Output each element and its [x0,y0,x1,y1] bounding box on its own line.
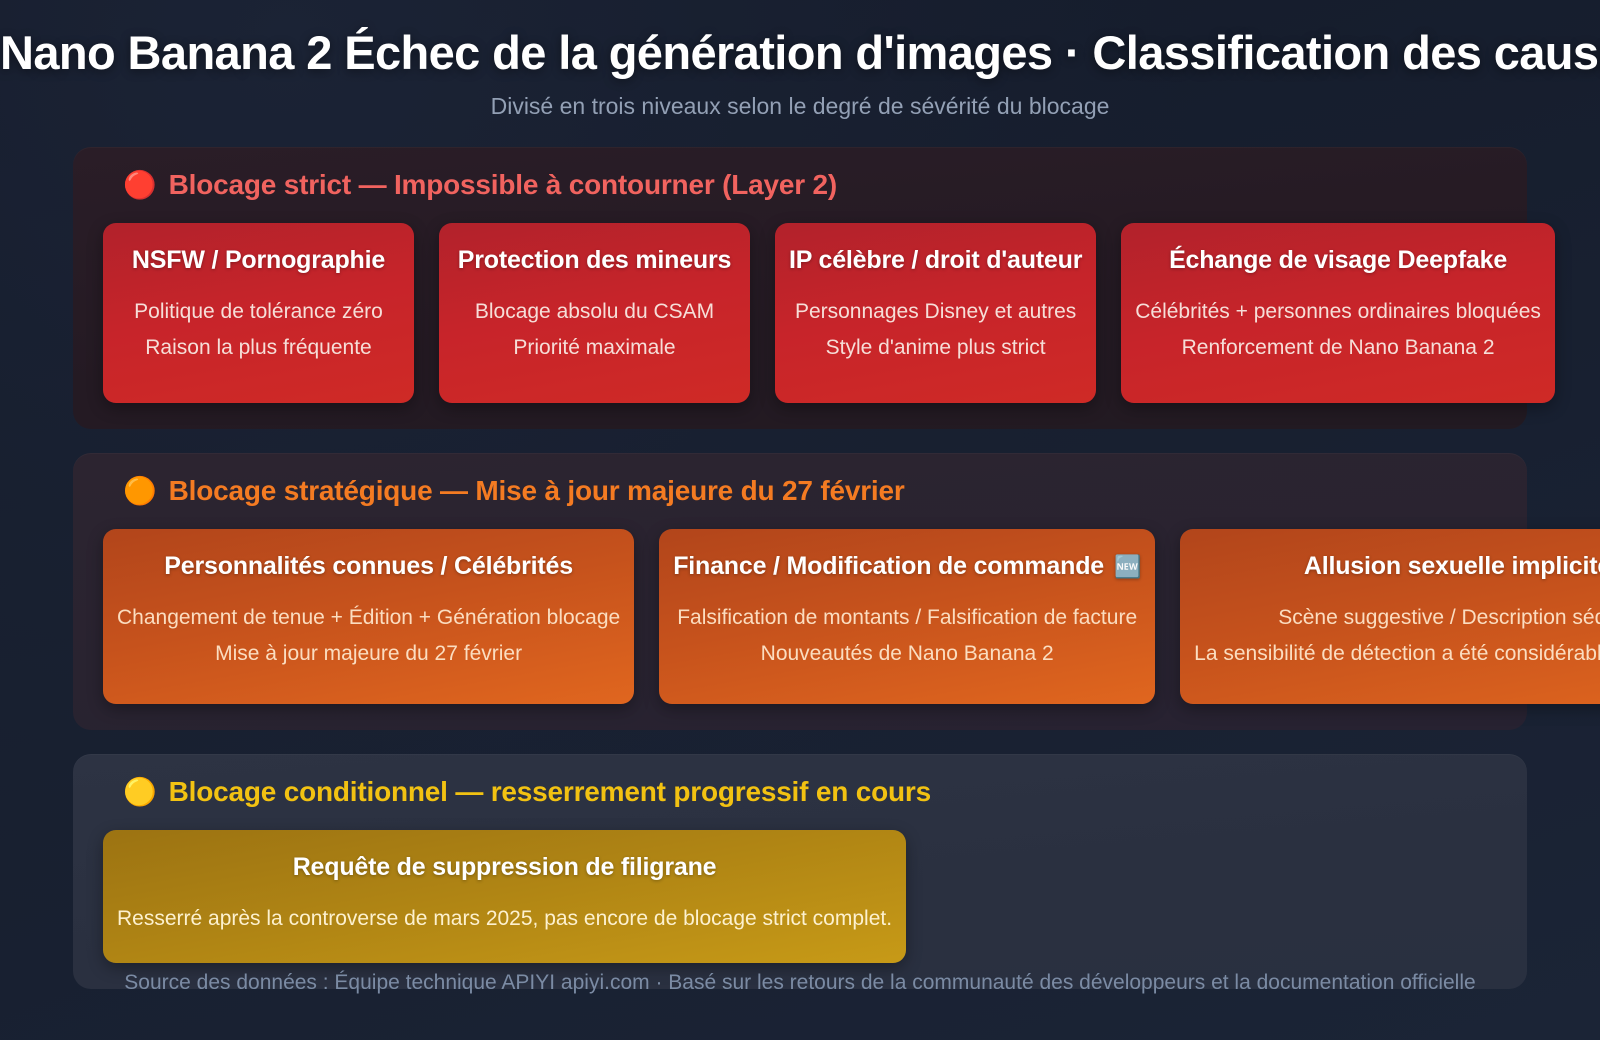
card-line-1: Politique de tolérance zéro [117,294,400,329]
section-header-strict: 🔴 Blocage strict — Impossible à contourn… [103,169,1497,201]
section-title-strategic: Blocage stratégique — Mise à jour majeur… [169,475,905,507]
card-line-1: Blocage absolu du CSAM [453,294,736,329]
page-subtitle: Divisé en trois niveaux selon le degré d… [0,92,1600,122]
card-title-text: Allusion sexuelle implicite [1304,551,1600,581]
card-minors[interactable]: Protection des mineurs Blocage absolu du… [439,223,750,403]
card-title-text: NSFW / Pornographie [132,245,385,275]
card-line-1: Falsification de montants / Falsificatio… [673,600,1141,635]
card-celebrities[interactable]: Personnalités connues / Célébrités Chang… [103,529,634,704]
card-title: Requête de suppression de filigrane [117,852,892,882]
new-badge-icon: 🆕 [1114,556,1141,578]
card-title-text: Protection des mineurs [458,245,731,275]
card-title-text: Échange de visage Deepfake [1169,245,1507,275]
card-description: Personnages Disney et autres Style d'ani… [789,294,1082,365]
card-title-text: Personnalités connues / Célébrités [164,551,573,581]
card-description: Changement de tenue + Édition + Générati… [117,600,620,671]
section-title-conditional: Blocage conditionnel — resserrement prog… [169,776,931,808]
section-header-conditional: 🟡 Blocage conditionnel — resserrement pr… [103,776,1497,808]
card-title: NSFW / Pornographie [117,245,400,275]
card-title: Protection des mineurs [453,245,736,275]
card-watermark-removal[interactable]: Requête de suppression de filigrane Ress… [103,830,906,962]
card-deepfake[interactable]: Échange de visage Deepfake Célébrités + … [1121,223,1555,403]
card-description: Célébrités + personnes ordinaires bloqué… [1135,294,1541,365]
card-line-2: Style d'anime plus strict [789,330,1082,365]
card-line-1: Changement de tenue + Édition + Générati… [117,600,620,635]
card-description: Falsification de montants / Falsificatio… [673,600,1141,671]
card-line-2: Raison la plus fréquente [117,330,400,365]
card-description: Blocage absolu du CSAM Priorité maximale [453,294,736,365]
card-title: Échange de visage Deepfake [1135,245,1541,275]
card-line-1: Scène suggestive / Description séduisant… [1194,600,1600,635]
page-title: Nano Banana 2 Échec de la génération d'i… [0,26,1600,81]
section-title-strict: Blocage strict — Impossible à contourner… [169,169,837,201]
card-row-conditional: Requête de suppression de filigrane Ress… [103,830,1497,962]
orange-circle-icon: 🟠 [123,478,157,505]
yellow-circle-icon: 🟡 [123,779,157,806]
card-title: IP célèbre / droit d'auteur [789,245,1082,275]
card-line-2: La sensibilité de détection a été consid… [1194,636,1600,671]
section-strategic: 🟠 Blocage stratégique — Mise à jour maje… [73,453,1527,730]
card-line-2: Renforcement de Nano Banana 2 [1135,330,1541,365]
red-circle-icon: 🔴 [123,172,157,199]
card-line-2: Priorité maximale [453,330,736,365]
card-title-text: Finance / Modification de commande [673,551,1104,581]
card-description: Scène suggestive / Description séduisant… [1194,600,1600,671]
card-description: Resserré après la controverse de mars 20… [117,901,892,936]
card-nsfw[interactable]: NSFW / Pornographie Politique de toléran… [103,223,414,403]
card-description: Politique de tolérance zéro Raison la pl… [117,294,400,365]
tier-sections: 🔴 Blocage strict — Impossible à contourn… [0,147,1600,988]
card-title: Finance / Modification de commande 🆕 [673,551,1141,581]
section-conditional: 🟡 Blocage conditionnel — resserrement pr… [73,754,1527,988]
card-line-2: Mise à jour majeure du 27 février [117,636,620,671]
card-finance-order[interactable]: Finance / Modification de commande 🆕 Fal… [659,529,1155,704]
card-title: Allusion sexuelle implicite 🆕 [1194,551,1600,581]
card-row-strategic: Personnalités connues / Célébrités Chang… [103,529,1497,704]
card-title-text: IP célèbre / droit d'auteur [789,245,1082,275]
infographic-page: Nano Banana 2 Échec de la génération d'i… [0,0,1600,1040]
card-implicit-sexual[interactable]: Allusion sexuelle implicite 🆕 Scène sugg… [1180,529,1600,704]
card-line-1: Célébrités + personnes ordinaires bloqué… [1135,294,1541,329]
section-header-strategic: 🟠 Blocage stratégique — Mise à jour maje… [103,475,1497,507]
page-header: Nano Banana 2 Échec de la génération d'i… [0,0,1600,121]
card-ip-copyright[interactable]: IP célèbre / droit d'auteur Personnages … [775,223,1096,403]
page-footer: Source des données : Équipe technique AP… [0,968,1600,997]
card-title-text: Requête de suppression de filigrane [293,852,717,882]
card-row-strict: NSFW / Pornographie Politique de toléran… [103,223,1497,403]
card-line-2: Nouveautés de Nano Banana 2 [673,636,1141,671]
card-title: Personnalités connues / Célébrités [117,551,620,581]
card-line-1: Resserré après la controverse de mars 20… [117,901,892,936]
section-strict: 🔴 Blocage strict — Impossible à contourn… [73,147,1527,429]
card-line-1: Personnages Disney et autres [789,294,1082,329]
